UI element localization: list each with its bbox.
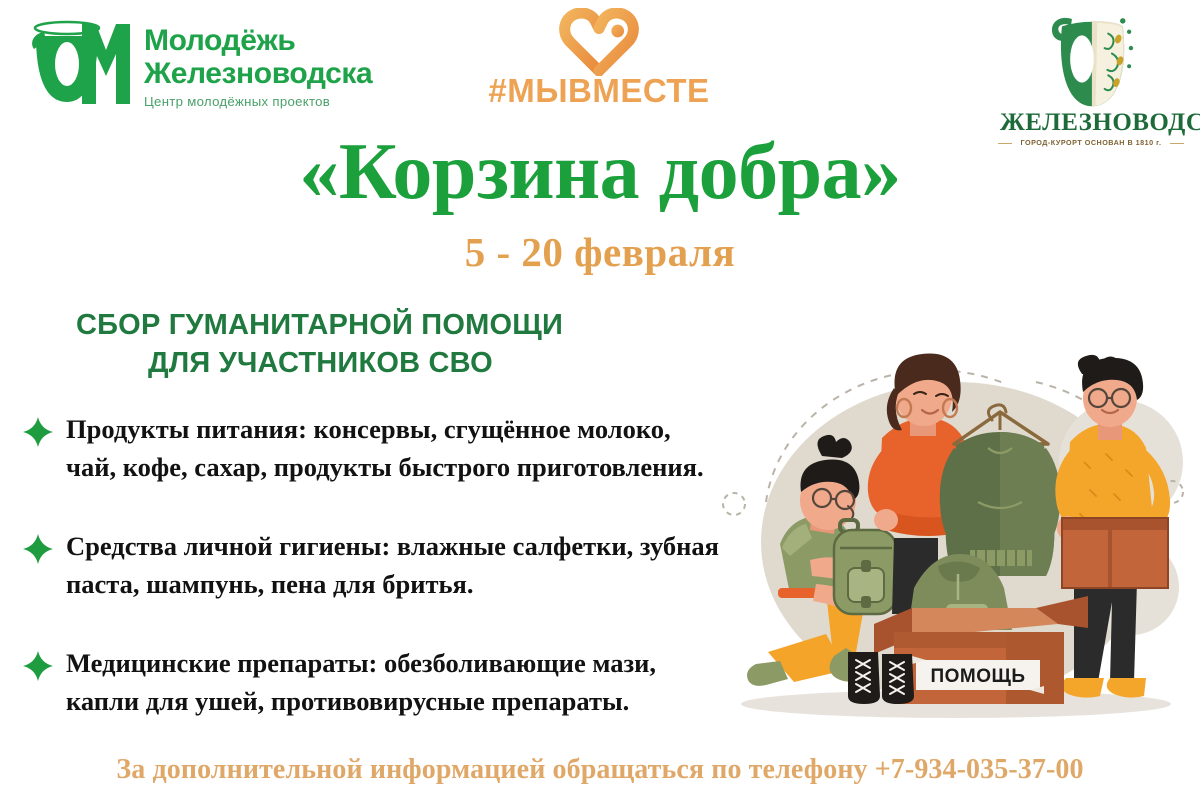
four-point-star-icon — [22, 416, 54, 448]
volunteers-illustration: ПОМОЩЬ — [706, 352, 1196, 760]
heart-icon — [484, 14, 714, 70]
list-item-text: Средства личной гигиены: влажные салфетк… — [66, 531, 722, 637]
four-point-star-icon — [22, 650, 54, 682]
youth-logo-wordmark: Молодёжь Железноводска Центр молодёжных … — [144, 24, 420, 109]
list-item: Продукты питания: консервы, сгущённое мо… — [22, 410, 722, 524]
four-point-star-icon — [22, 533, 54, 565]
subtitle-block: СБОР ГУМАНИТАРНОЙ ПОМОЩИ ДЛЯ УЧАСТНИКОВ … — [48, 306, 658, 382]
youth-center-logo: Молодёжь Железноводска Центр молодёжных … — [22, 18, 422, 120]
poster-root: Молодёжь Железноводска Центр молодёжных … — [0, 0, 1200, 800]
donation-items-list: Продукты питания: консервы, сгущённое мо… — [22, 410, 722, 761]
page-title: «Корзина добра» — [0, 128, 1200, 216]
contact-info: За дополнительной информацией обращаться… — [0, 753, 1200, 787]
subtitle-line-2: ДЛЯ УЧАСТНИКОВ СВО — [48, 344, 658, 382]
youth-logo-line1: Молодёжь — [144, 24, 420, 57]
jug-m-monogram-icon — [22, 18, 136, 104]
subtitle-line-1: СБОР ГУМАНИТАРНОЙ ПОМОЩИ — [48, 306, 658, 344]
event-date: 5 - 20 февраля — [0, 228, 1200, 276]
ornamental-jug-icon — [1000, 6, 1182, 110]
donation-box-label: ПОМОЩЬ — [930, 666, 1025, 687]
list-item-text: Медицинские препараты: обезболивающие ма… — [66, 648, 722, 754]
olive-backpack — [834, 520, 896, 614]
carried-carton-box — [1062, 518, 1168, 588]
list-item: Медицинские препараты: обезболивающие ма… — [22, 644, 722, 758]
youth-logo-tagline: Центр молодёжных проектов — [144, 94, 420, 109]
myvmeste-logo: #МЫВМЕСТЕ — [484, 14, 714, 110]
myvmeste-hashtag: #МЫВМЕСТЕ — [484, 72, 714, 110]
list-item-text: Продукты питания: консервы, сгущённое мо… — [66, 414, 722, 520]
zheleznovodsk-logo: ЖЕЛЕЗНОВОДСК ГОРОД-КУРОРТ ОСНОВАН В 1810… — [1000, 6, 1182, 147]
youth-logo-line2: Железноводска — [144, 57, 420, 90]
list-item: Средства личной гигиены: влажные салфетк… — [22, 527, 722, 641]
